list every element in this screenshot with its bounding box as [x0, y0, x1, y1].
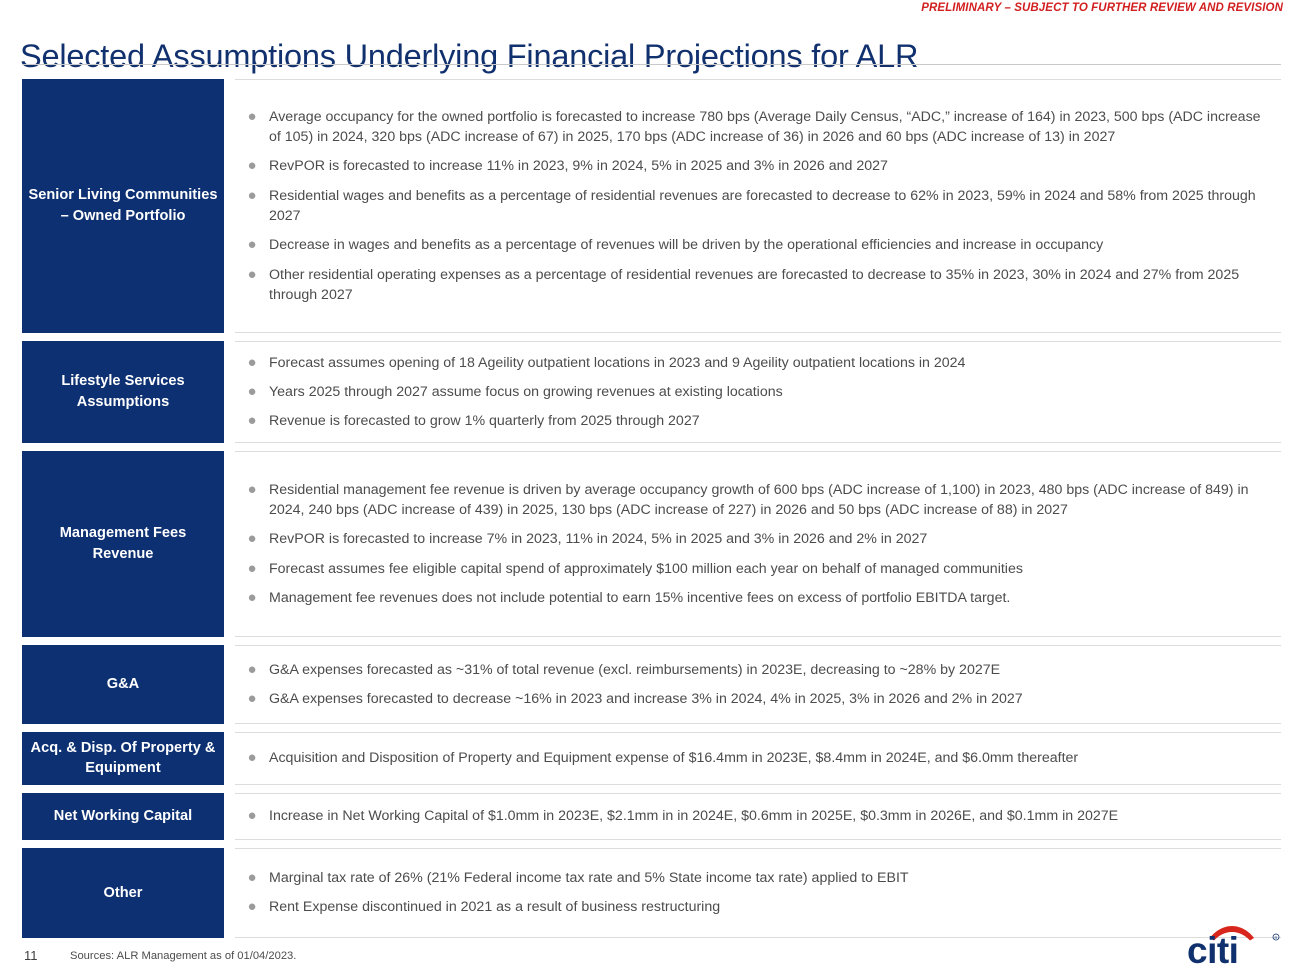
bullet-icon: ●	[235, 480, 269, 500]
bullet-icon: ●	[235, 529, 269, 549]
list-item: ● RevPOR is forecasted to increase 7% in…	[235, 525, 1281, 554]
list-item: ● Revenue is forecasted to grow 1% quart…	[235, 407, 1281, 436]
bullet-icon: ●	[235, 868, 269, 888]
bullet-text: Years 2025 through 2027 assume focus on …	[269, 382, 1281, 402]
bullet-text: Increase in Net Working Capital of $1.0m…	[269, 806, 1281, 826]
bullet-icon: ●	[235, 156, 269, 176]
list-item: ● Acquisition and Disposition of Propert…	[235, 744, 1281, 773]
preliminary-disclaimer: PRELIMINARY – SUBJECT TO FURTHER REVIEW …	[0, 2, 1283, 14]
bullet-text: Marginal tax rate of 26% (21% Federal in…	[269, 868, 1281, 888]
row-label-text: Other	[104, 883, 143, 904]
list-item: ● G&A expenses forecasted as ~31% of tot…	[235, 655, 1281, 684]
row-label-g-and-a: G&A	[22, 645, 224, 724]
bullet-text: Forecast assumes opening of 18 Ageility …	[269, 353, 1281, 373]
source-note: Sources: ALR Management as of 01/04/2023…	[70, 950, 296, 962]
bullet-text: Forecast assumes fee eligible capital sp…	[269, 559, 1281, 579]
row-label-text: Management Fees Revenue	[28, 523, 218, 564]
bullet-icon: ●	[235, 235, 269, 255]
list-item: ● Management fee revenues does not inclu…	[235, 583, 1281, 612]
table-row: Lifestyle Services Assumptions ● Forecas…	[22, 341, 1281, 443]
bullet-text: Residential wages and benefits as a perc…	[269, 186, 1281, 227]
row-label-net-working-capital: Net Working Capital	[22, 793, 224, 840]
list-item: ● Residential wages and benefits as a pe…	[235, 181, 1281, 231]
list-item: ● Forecast assumes opening of 18 Ageilit…	[235, 348, 1281, 377]
list-item: ● Other residential operating expenses a…	[235, 260, 1281, 310]
citi-logo: citi R	[1180, 917, 1284, 969]
row-content-g-and-a: ● G&A expenses forecasted as ~31% of tot…	[235, 645, 1281, 724]
bullet-icon: ●	[235, 107, 269, 127]
row-label-text: Senior Living Communities – Owned Portfo…	[28, 185, 218, 226]
row-label-senior-living: Senior Living Communities – Owned Portfo…	[22, 79, 224, 333]
row-content-lifestyle-services: ● Forecast assumes opening of 18 Ageilit…	[235, 341, 1281, 443]
row-label-text: Net Working Capital	[54, 806, 192, 827]
table-row: Senior Living Communities – Owned Portfo…	[22, 79, 1281, 333]
bullet-text: Rent Expense discontinued in 2021 as a r…	[269, 897, 1281, 917]
table-row: Net Working Capital ● Increase in Net Wo…	[22, 793, 1281, 840]
bullet-icon: ●	[235, 660, 269, 680]
list-item: ● Years 2025 through 2027 assume focus o…	[235, 377, 1281, 406]
bullet-text: Acquisition and Disposition of Property …	[269, 748, 1281, 768]
list-item: ● Forecast assumes fee eligible capital …	[235, 554, 1281, 583]
row-spacer	[22, 724, 1281, 732]
row-spacer	[22, 840, 1281, 848]
row-content-other: ● Marginal tax rate of 26% (21% Federal …	[235, 848, 1281, 938]
row-spacer	[22, 443, 1281, 451]
list-item: ● G&A expenses forecasted to decrease ~1…	[235, 684, 1281, 713]
page-number: 11	[24, 948, 38, 963]
title-divider	[22, 64, 1281, 65]
list-item: ● Average occupancy for the owned portfo…	[235, 102, 1281, 152]
row-label-other: Other	[22, 848, 224, 938]
bullet-icon: ●	[235, 186, 269, 206]
bullet-text: Decrease in wages and benefits as a perc…	[269, 235, 1281, 255]
bullet-icon: ●	[235, 353, 269, 373]
row-label-text: Acq. & Disp. Of Property & Equipment	[28, 738, 218, 779]
list-item: ● Marginal tax rate of 26% (21% Federal …	[235, 864, 1281, 893]
bullet-text: RevPOR is forecasted to increase 7% in 2…	[269, 529, 1281, 549]
bullet-text: Other residential operating expenses as …	[269, 265, 1281, 306]
row-content-management-fees: ● Residential management fee revenue is …	[235, 451, 1281, 637]
row-content-acq-disp-property-equipment: ● Acquisition and Disposition of Propert…	[235, 732, 1281, 785]
bullet-text: Residential management fee revenue is dr…	[269, 480, 1281, 521]
row-spacer	[22, 637, 1281, 645]
bullet-icon: ●	[235, 897, 269, 917]
citi-wordmark: citi	[1187, 930, 1238, 969]
page-title: Selected Assumptions Underlying Financia…	[20, 38, 918, 75]
bullet-icon: ●	[235, 382, 269, 402]
bullet-text: G&A expenses forecasted as ~31% of total…	[269, 660, 1281, 680]
list-item: ● Rent Expense discontinued in 2021 as a…	[235, 893, 1281, 922]
bullet-icon: ●	[235, 265, 269, 285]
table-row: Acq. & Disp. Of Property & Equipment ● A…	[22, 732, 1281, 785]
list-item: ● Decrease in wages and benefits as a pe…	[235, 231, 1281, 260]
list-item: ● Residential management fee revenue is …	[235, 475, 1281, 525]
list-item: ● RevPOR is forecasted to increase 11% i…	[235, 152, 1281, 181]
list-item: ● Increase in Net Working Capital of $1.…	[235, 802, 1281, 831]
row-label-text: G&A	[107, 674, 139, 695]
bullet-icon: ●	[235, 588, 269, 608]
row-spacer	[22, 785, 1281, 793]
row-content-net-working-capital: ● Increase in Net Working Capital of $1.…	[235, 793, 1281, 840]
table-row: G&A ● G&A expenses forecasted as ~31% of…	[22, 645, 1281, 724]
row-content-senior-living: ● Average occupancy for the owned portfo…	[235, 79, 1281, 333]
assumptions-table: Senior Living Communities – Owned Portfo…	[22, 79, 1281, 938]
bullet-icon: ●	[235, 559, 269, 579]
bullet-icon: ●	[235, 806, 269, 826]
registered-r-glyph: R	[1275, 935, 1278, 940]
bullet-icon: ●	[235, 411, 269, 431]
bullet-text: Revenue is forecasted to grow 1% quarter…	[269, 411, 1281, 431]
bullet-icon: ●	[235, 689, 269, 709]
bullet-text: Management fee revenues does not include…	[269, 588, 1281, 608]
row-label-management-fees: Management Fees Revenue	[22, 451, 224, 637]
bullet-text: RevPOR is forecasted to increase 11% in …	[269, 156, 1281, 176]
row-label-lifestyle-services: Lifestyle Services Assumptions	[22, 341, 224, 443]
bullet-text: Average occupancy for the owned portfoli…	[269, 107, 1281, 148]
table-row: Other ● Marginal tax rate of 26% (21% Fe…	[22, 848, 1281, 938]
row-label-acq-disp-property-equipment: Acq. & Disp. Of Property & Equipment	[22, 732, 224, 785]
bullet-text: G&A expenses forecasted to decrease ~16%…	[269, 689, 1281, 709]
row-spacer	[22, 333, 1281, 341]
bullet-icon: ●	[235, 748, 269, 768]
row-label-text: Lifestyle Services Assumptions	[28, 371, 218, 412]
table-row: Management Fees Revenue ● Residential ma…	[22, 451, 1281, 637]
